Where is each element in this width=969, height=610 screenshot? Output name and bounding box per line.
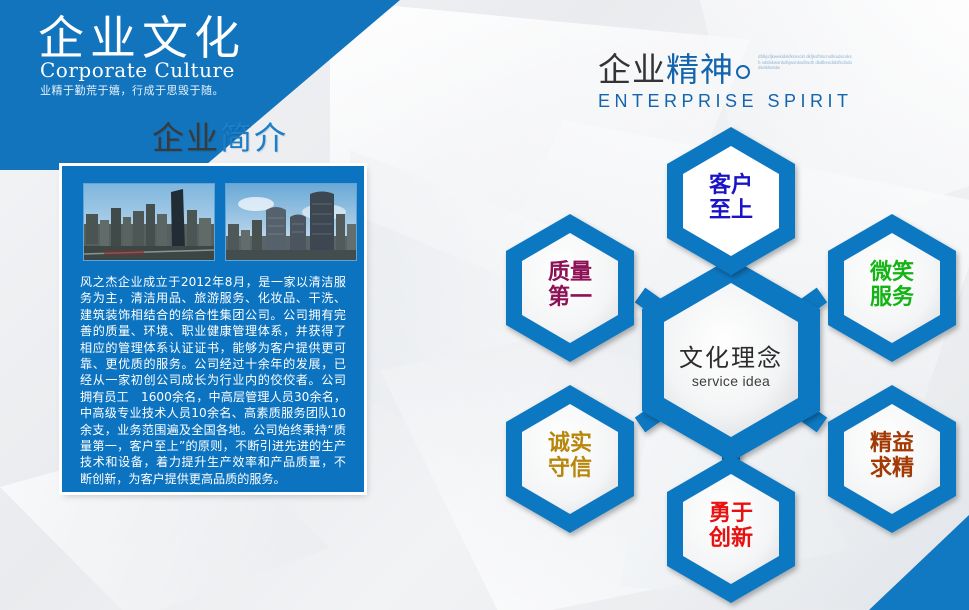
company-description-text: 风之杰企业成立于2012年8月，是一家以清洁服务为主，清洁用品、旅游服务、化妆品…: [80, 274, 346, 487]
spirit-title-accent: 精神: [666, 51, 734, 88]
banner-subtitle: 业精于勤荒于嬉，行成于思毁于随。: [40, 82, 224, 98]
circle-dot-icon: [736, 65, 750, 79]
hexagon-node-top[interactable]: [667, 127, 795, 275]
city-skyline-photo-1: [83, 183, 215, 261]
hexagon-node-upper-right[interactable]: [828, 214, 956, 362]
banner-title-en: Corporate Culture: [40, 58, 235, 82]
city-photo-graphic: [226, 184, 356, 260]
enterprise-spirit-heading: 企业精神 ENTERPRISE SPIRIT dfdkjsfjkwekldskl…: [598, 52, 853, 112]
culture-hexagon-diagram: 文化理念 service idea 客户 至上 质量 第一 微笑 服务 诚实 守…: [490, 110, 969, 610]
intro-section-title: 企业简介: [152, 113, 288, 159]
banner-title-cn: 企业文化: [38, 12, 246, 65]
photo-gallery: [83, 183, 357, 261]
spirit-title-prefix: 企业: [598, 51, 666, 88]
center-label-en: service idea: [631, 373, 831, 389]
hexagon-node-bottom[interactable]: [667, 455, 795, 603]
hexagon-node-lower-left[interactable]: [506, 385, 634, 533]
intro-title-prefix: 企业: [152, 120, 220, 156]
decorative-filler-text: dfdkjsfjkwekldsklksnsckl dkfjksfhlscmdls…: [758, 54, 853, 78]
slide-canvas: 企业文化 Corporate Culture 业精于勤荒于嬉，行成于思毁于随。 …: [0, 0, 969, 610]
city-photo-graphic: [84, 184, 214, 260]
intro-title-accent: 简介: [220, 120, 288, 156]
center-label-cn: 文化理念: [631, 338, 831, 373]
company-intro-panel: 风之杰企业成立于2012年8月，是一家以清洁服务为主，清洁用品、旅游服务、化妆品…: [62, 166, 364, 492]
hexagon-node-upper-left[interactable]: [506, 214, 634, 362]
hexagon-node-lower-right[interactable]: [828, 385, 956, 533]
city-skyline-photo-2: [225, 183, 357, 261]
